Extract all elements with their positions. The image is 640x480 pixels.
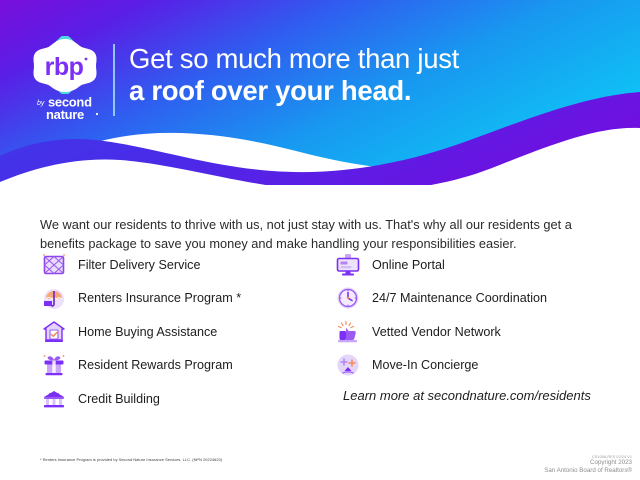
benefit-label: 24/7 Maintenance Coordination [372, 291, 547, 305]
rbp-badge-icon: rbp [26, 36, 104, 94]
svg-text:rbp: rbp [45, 53, 84, 81]
benefits-list-right: Online Portal 24/7 Maintenance Coordinat… [334, 248, 624, 382]
header-banner: rbp by second nature Get so much more th… [0, 0, 640, 185]
header-divider [113, 44, 115, 116]
benefit-item-online-portal: Online Portal [334, 248, 624, 282]
gift-icon [40, 352, 68, 379]
copyright-block: CS1008-RES 02/24 V1 Copyright 2023 San A… [544, 455, 632, 475]
benefit-item-filter-delivery-service: Filter Delivery Service [40, 248, 330, 282]
umbrella-icon [40, 285, 68, 312]
benefit-label: Home Buying Assistance [78, 325, 217, 339]
svg-text:nature: nature [46, 107, 84, 121]
benefit-item-resident-rewards-program: Resident Rewards Program [40, 349, 330, 383]
benefit-label: Filter Delivery Service [78, 258, 200, 272]
house-check-icon [40, 318, 68, 345]
page-title: Get so much more than just a roof over y… [129, 43, 459, 107]
flyer-page: rbp by second nature Get so much more th… [0, 0, 640, 480]
benefit-item-renters-insurance-program: Renters Insurance Program * [40, 282, 330, 316]
benefit-label: Online Portal [372, 258, 445, 272]
sparkle-box-icon [334, 352, 362, 379]
benefit-label: Vetted Vendor Network [372, 325, 501, 339]
headline-line-1: Get so much more than just [129, 43, 459, 75]
monitor-icon [334, 251, 362, 278]
benefit-label: Renters Insurance Program * [78, 291, 241, 305]
benefit-item-credit-building: Credit Building [40, 382, 330, 416]
footnote-text: * Renters Insurance Program is provided … [40, 457, 222, 462]
credit-building-icon [40, 385, 68, 412]
filter-grid-icon [40, 251, 68, 278]
benefit-item-vetted-vendor-network: Vetted Vendor Network [334, 315, 624, 349]
benefit-label: Resident Rewards Program [78, 358, 233, 372]
learn-more-link[interactable]: Learn more at secondnature.com/residents [343, 388, 591, 403]
benefits-list-left: Filter Delivery Service Renters Insuranc… [40, 248, 330, 416]
clock-icon [334, 285, 362, 312]
thumbs-up-icon [334, 318, 362, 345]
benefit-label: Move-In Concierge [372, 358, 478, 372]
second-nature-tagline: by second nature [26, 93, 104, 121]
benefit-item-move-in-concierge: Move-In Concierge [334, 349, 624, 383]
copyright-line-1: Copyright 2023 [544, 459, 632, 467]
svg-text:by: by [37, 100, 45, 107]
rbp-logo: rbp by second nature [26, 36, 104, 120]
benefit-item-maintenance-coordination: 24/7 Maintenance Coordination [334, 282, 624, 316]
second-nature-wordmark-icon: by second nature [27, 93, 103, 121]
benefit-label: Credit Building [78, 392, 160, 406]
headline-line-2: a roof over your head. [129, 75, 459, 107]
benefit-item-home-buying-assistance: Home Buying Assistance [40, 315, 330, 349]
rbp-logo-mark: rbp [26, 36, 104, 94]
copyright-line-2: San Antonio Board of Realtors® [544, 467, 632, 475]
